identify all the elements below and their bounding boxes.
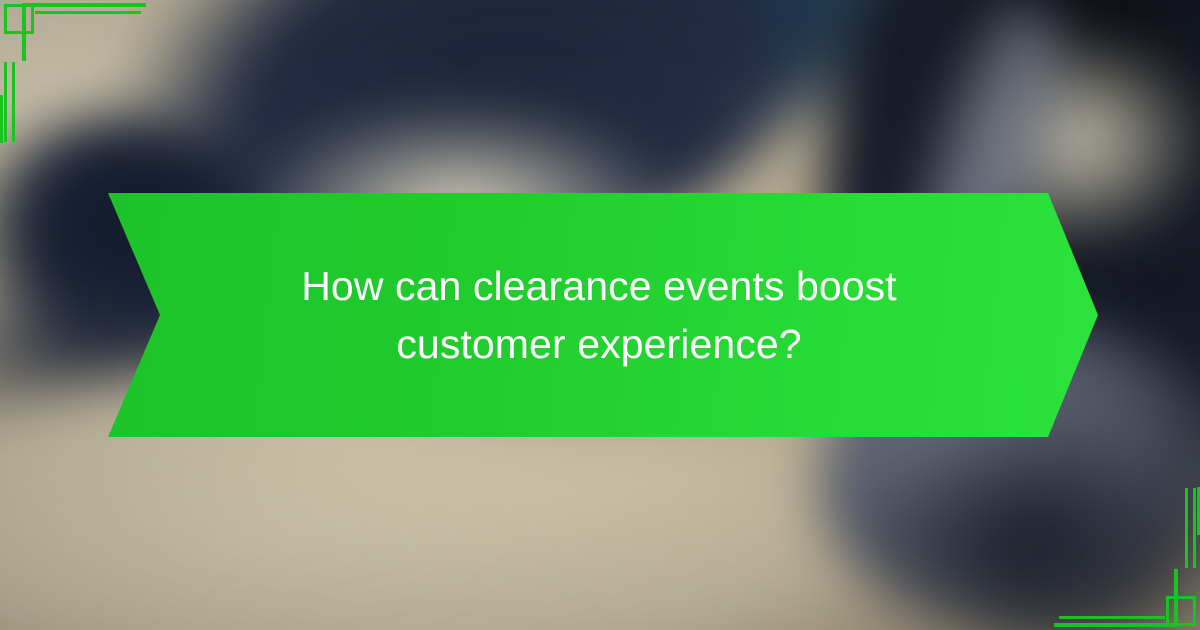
- corner-square-icon-top-left: [4, 4, 34, 34]
- corner-elbow-vertical-bottom-right: [1174, 569, 1178, 627]
- corner-vertical-line-c-top-left: [0, 95, 3, 143]
- corner-elbow-vertical-top-left: [22, 3, 26, 61]
- headline-banner: How can clearance events boost customer …: [108, 193, 1098, 437]
- corner-square-icon-bottom-right: [1166, 596, 1196, 626]
- page-title: How can clearance events boost customer …: [269, 257, 929, 373]
- corner-elbow-horizontal-top-left: [22, 3, 146, 7]
- corner-line-secondary-top-left: [35, 11, 141, 14]
- corner-vertical-line-b-top-left: [12, 62, 15, 142]
- share-card: How can clearance events boost customer …: [0, 0, 1200, 630]
- corner-line-secondary-bottom-right: [1059, 616, 1165, 619]
- corner-elbow-horizontal-bottom-right: [1054, 623, 1178, 627]
- corner-vertical-line-b-bottom-right: [1185, 488, 1188, 568]
- corner-vertical-line-a-top-left: [4, 62, 7, 142]
- corner-vertical-line-a-bottom-right: [1193, 488, 1196, 568]
